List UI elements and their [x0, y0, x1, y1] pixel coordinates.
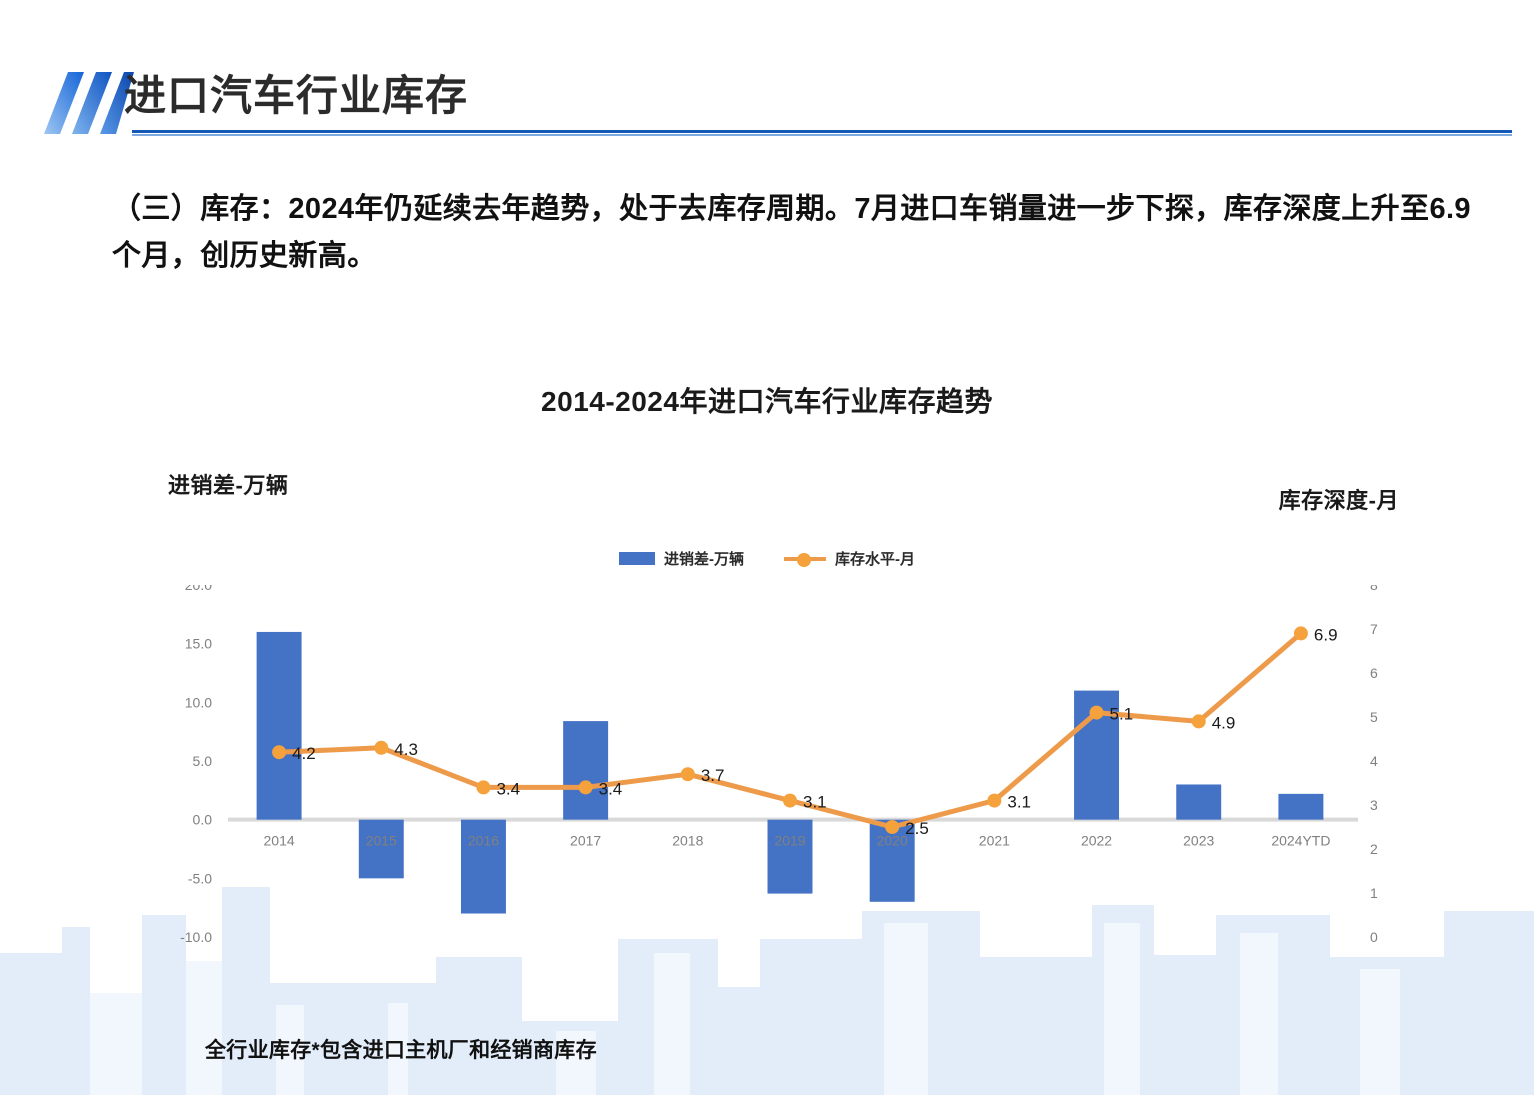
page-title: 进口汽车行业库存: [124, 62, 468, 123]
chart-line-marker[interactable]: [783, 794, 797, 808]
inventory-trend-chart: 2014-2024年进口汽车行业库存趋势 进销差-万辆 库存深度-月 进销差-万…: [0, 380, 1534, 1060]
chart-data-label: 2.5: [905, 819, 929, 838]
chart-bar[interactable]: [1176, 784, 1221, 819]
legend-label-line: 库存水平-月: [835, 548, 915, 569]
x-axis-tick-label: 2023: [1183, 833, 1214, 849]
left-axis-tick: -5.0: [188, 870, 212, 886]
chart-line-marker[interactable]: [1294, 626, 1308, 640]
x-axis-tick-label: 2017: [570, 833, 601, 849]
right-axis-tick: 4: [1370, 753, 1378, 769]
chart-data-label: 4.9: [1212, 713, 1236, 732]
legend-line-swatch-icon: [784, 553, 826, 565]
chart-footnote: 全行业库存*包含进口主机厂和经销商库存: [205, 1034, 597, 1064]
right-axis-tick: 1: [1370, 885, 1378, 901]
x-axis-tick-label: 2015: [366, 833, 397, 849]
chart-data-label: 4.3: [394, 740, 418, 759]
chart-bar[interactable]: [257, 632, 302, 820]
chart-line-marker[interactable]: [272, 745, 286, 759]
left-axis-title: 进销差-万辆: [168, 468, 288, 500]
chart-data-label: 3.1: [1007, 793, 1031, 812]
chart-title: 2014-2024年进口汽车行业库存趋势: [0, 380, 1534, 420]
x-axis-tick-label: 2021: [979, 833, 1010, 849]
x-axis-tick-label: 2024YTD: [1271, 833, 1330, 849]
chart-data-label: 5.1: [1110, 705, 1134, 724]
chart-line-marker[interactable]: [681, 767, 695, 781]
x-axis-tick-label: 2014: [264, 833, 295, 849]
chart-legend: 进销差-万辆 库存水平-月: [0, 548, 1534, 569]
right-axis-title: 库存深度-月: [1279, 483, 1399, 515]
x-axis-tick-label: 2019: [774, 833, 805, 849]
legend-label-bars: 进销差-万辆: [664, 548, 744, 569]
chart-line-marker[interactable]: [885, 820, 899, 834]
right-axis-tick: 6: [1370, 665, 1378, 681]
chart-line-marker[interactable]: [987, 794, 1001, 808]
chart-data-label: 6.9: [1314, 625, 1338, 644]
chart-plot-area: 20.015.010.05.00.0-5.0-10.08765432102014…: [0, 585, 1534, 985]
header-divider: [132, 130, 1512, 136]
chart-line-marker[interactable]: [374, 741, 388, 755]
chart-bar[interactable]: [563, 721, 608, 820]
chart-bar[interactable]: [768, 820, 813, 894]
chart-data-label: 3.1: [803, 793, 827, 812]
legend-item-line[interactable]: 库存水平-月: [784, 548, 915, 569]
legend-item-bars[interactable]: 进销差-万辆: [619, 548, 744, 569]
left-axis-tick: 0.0: [193, 812, 213, 828]
x-axis-tick-label: 2022: [1081, 833, 1112, 849]
left-axis-tick: 10.0: [185, 694, 212, 710]
x-axis-tick-label: 2018: [672, 833, 703, 849]
chart-line-marker[interactable]: [1090, 706, 1104, 720]
chart-data-label: 3.4: [599, 779, 623, 798]
left-axis-tick: 20.0: [185, 585, 212, 593]
left-axis-tick: 15.0: [185, 636, 212, 652]
chart-data-label: 3.4: [496, 779, 520, 798]
left-axis-tick: -10.0: [180, 929, 212, 945]
chart-line-marker[interactable]: [579, 780, 593, 794]
chart-data-label: 4.2: [292, 744, 316, 763]
three-slanted-bars-logo-icon: [22, 66, 134, 138]
section-heading-text: （三）库存：2024年仍延续去年趋势，处于去库存周期。7月进口车销量进一步下探，…: [112, 186, 1480, 280]
chart-line-marker[interactable]: [1192, 714, 1206, 728]
legend-bar-swatch-icon: [619, 552, 655, 565]
right-axis-tick: 7: [1370, 621, 1378, 637]
right-axis-tick: 3: [1370, 797, 1378, 813]
right-axis-tick: 0: [1370, 929, 1378, 945]
page-header: 进口汽车行业库存: [0, 0, 1534, 150]
left-axis-tick: 5.0: [193, 753, 213, 769]
right-axis-tick: 5: [1370, 709, 1378, 725]
x-axis-tick-label: 2016: [468, 833, 499, 849]
chart-bar[interactable]: [1278, 794, 1323, 820]
chart-line-marker[interactable]: [476, 780, 490, 794]
x-axis-tick-label: 2020: [877, 833, 908, 849]
right-axis-tick: 2: [1370, 841, 1378, 857]
right-axis-tick: 8: [1370, 585, 1378, 593]
chart-data-label: 3.7: [701, 766, 725, 785]
chart-bar[interactable]: [359, 820, 404, 879]
